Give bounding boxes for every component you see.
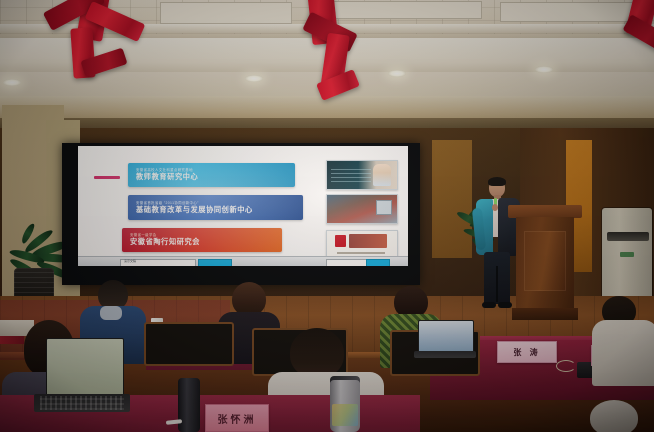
placard-zhang-huai: 张怀洲 [205, 404, 269, 432]
conference-hall-photo: 安徽省高校人文社科重点研究基地 教师教育研究中心 安徽省首批省级 "2011协同… [0, 0, 654, 432]
laptop-green-jacket [414, 320, 476, 362]
ceiling-panel [160, 2, 292, 24]
coiled-cable [556, 360, 576, 372]
laptop-screen [418, 320, 474, 354]
audience-chair [144, 322, 234, 366]
presentation-slide: 安徽省高校人文社科重点研究基地 教师教育研究中心 安徽省首批省级 "2011协同… [78, 146, 408, 266]
laptop-front-left [30, 338, 126, 432]
podium-front-panel [524, 231, 566, 291]
lectern-podium [508, 205, 582, 323]
laptop-base [414, 351, 476, 358]
slide-banner-teacher-education: 安徽省高校人文社科重点研究基地 教师教育研究中心 [128, 163, 295, 187]
slide-banner-tao-xingzhi: 安徽省一级学会 安徽省陶行知研究会 [122, 228, 282, 252]
slide-thumbnail-seminar-room [326, 194, 398, 224]
person-head [232, 282, 266, 316]
ribbon-decoration [28, 0, 158, 84]
thermos-label [332, 404, 358, 426]
certificate-calligraphy [349, 234, 387, 248]
person-collar [100, 306, 122, 320]
taskbar-window-title: 演示文稿 [124, 259, 136, 263]
projection-screen: 安徽省高校人文社科重点研究基地 教师教育研究中心 安徽省首批省级 "2011协同… [78, 146, 408, 266]
speaker-hand [492, 204, 498, 211]
certificate-caption [337, 252, 385, 254]
banner-title: 教师教育研究中心 [136, 173, 287, 182]
water-bottle [178, 378, 200, 432]
audience-right-edge [592, 296, 654, 382]
slide-thumbnail-classroom-teacher [326, 160, 398, 190]
taskbar-active-button[interactable] [198, 259, 232, 267]
laptop-keyboard[interactable] [40, 396, 124, 410]
ribbon-decoration [296, 0, 406, 100]
placard-zhang-tao: 张 涛 [497, 341, 557, 363]
podium-base [512, 308, 578, 320]
air-conditioner-logo [620, 252, 634, 257]
certificate-seal [335, 235, 346, 247]
laptop-screen [46, 338, 124, 396]
banner-title: 安徽省陶行知研究会 [130, 238, 274, 247]
slide-taskbar[interactable]: 演示文稿 [78, 256, 408, 266]
ribbon-decoration [620, 0, 654, 70]
taskbar-active-button[interactable] [366, 259, 390, 267]
ceiling-spotlight [3, 79, 21, 86]
speaker-hair [488, 177, 506, 186]
banner-title: 基础教育改革与发展协同创新中心 [136, 206, 295, 215]
audience-bottom-right [576, 400, 654, 432]
ceiling-spotlight [535, 66, 553, 73]
air-conditioner-vent [607, 232, 649, 241]
speaker-shoe-left [482, 302, 496, 308]
slide-banner-basic-education: 安徽省首批省级 "2011协同创新中心" 基础教育改革与发展协同创新中心 [128, 195, 303, 220]
speaker-leg-split [496, 266, 498, 302]
person-torso [592, 320, 654, 386]
slide-marker-dash [94, 176, 120, 179]
ceiling-spotlight [245, 75, 263, 82]
person-head [290, 328, 344, 378]
person-head [590, 400, 638, 432]
